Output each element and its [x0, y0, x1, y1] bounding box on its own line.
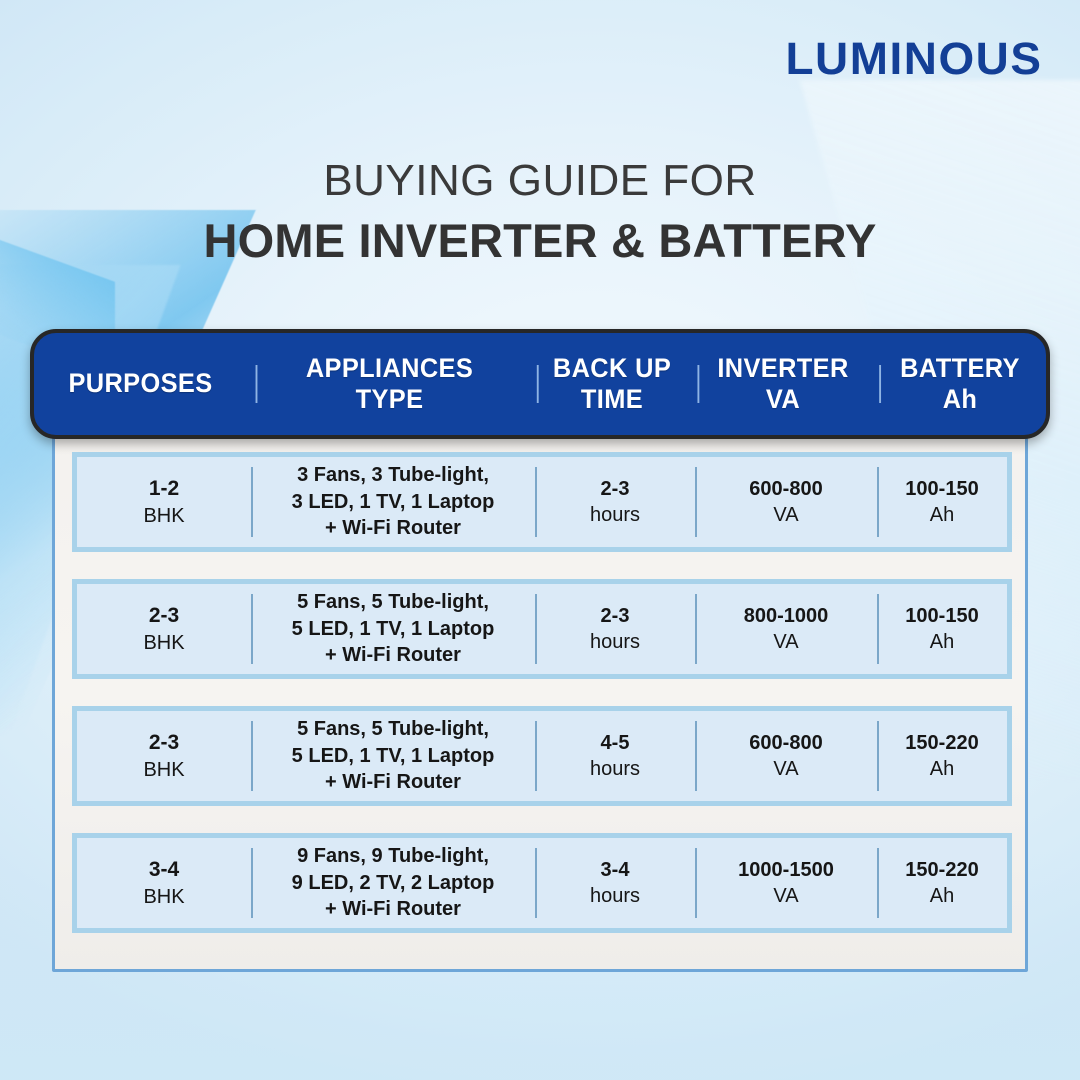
cell-purpose-sub: BHK: [143, 503, 184, 529]
cell-purpose-sub: BHK: [143, 630, 184, 656]
cell-inverter-va: 800-1000 VA: [695, 584, 877, 674]
cell-purpose: 2-3 BHK: [77, 711, 251, 801]
column-header-backup-line1: BACK UP: [553, 353, 671, 383]
cell-appliances: 3 Fans, 3 Tube-light, 3 LED, 1 TV, 1 Lap…: [251, 457, 535, 547]
cell-appliances-line3: + Wi-Fi Router: [325, 642, 461, 668]
cell-inverter-sub: VA: [773, 883, 798, 909]
cell-battery-ah: 100-150 Ah: [877, 584, 1007, 674]
cell-backup-sub: hours: [590, 502, 640, 528]
cell-purpose: 2-3 BHK: [77, 584, 251, 674]
cell-battery-sub: Ah: [930, 883, 954, 909]
column-header-appliances-line2: TYPE: [356, 384, 424, 414]
cell-inverter-va: 600-800 VA: [695, 457, 877, 547]
cell-inverter-main: 800-1000: [744, 603, 829, 629]
cell-purpose: 1-2 BHK: [77, 457, 251, 547]
cell-inverter-va: 600-800 VA: [695, 711, 877, 801]
cell-backup-time: 4-5 hours: [535, 711, 695, 801]
cell-appliances: 5 Fans, 5 Tube-light, 5 LED, 1 TV, 1 Lap…: [251, 584, 535, 674]
cell-battery-main: 150-220: [905, 857, 978, 883]
cell-appliances: 5 Fans, 5 Tube-light, 5 LED, 1 TV, 1 Lap…: [251, 711, 535, 801]
column-header-backup-line2: TIME: [581, 384, 643, 414]
cell-backup-sub: hours: [590, 629, 640, 655]
cell-appliances-line3: + Wi-Fi Router: [325, 896, 461, 922]
table-row: 3-4 BHK 9 Fans, 9 Tube-light, 9 LED, 2 T…: [72, 833, 1012, 933]
cell-backup-time: 2-3 hours: [535, 457, 695, 547]
table-row: 1-2 BHK 3 Fans, 3 Tube-light, 3 LED, 1 T…: [72, 452, 1012, 552]
cell-purpose-sub: BHK: [143, 884, 184, 910]
cell-battery-main: 100-150: [905, 603, 978, 629]
cell-battery-ah: 100-150 Ah: [877, 457, 1007, 547]
cell-battery-sub: Ah: [930, 629, 954, 655]
cell-appliances-line3: + Wi-Fi Router: [325, 515, 461, 541]
column-header-battery-line1: BATTERY: [900, 353, 1020, 383]
table-row: 2-3 BHK 5 Fans, 5 Tube-light, 5 LED, 1 T…: [72, 579, 1012, 679]
cell-appliances-line1: 3 Fans, 3 Tube-light,: [297, 462, 489, 488]
column-header-appliances-line1: APPLIANCES: [306, 353, 473, 383]
page-title-line2: HOME INVERTER & BATTERY: [0, 213, 1080, 268]
cell-appliances-line3: + Wi-Fi Router: [325, 769, 461, 795]
column-header-inverter-va: INVERTER VA: [697, 353, 868, 416]
cell-backup-main: 2-3: [601, 603, 630, 629]
cell-inverter-main: 1000-1500: [738, 857, 834, 883]
table-row: 2-3 BHK 5 Fans, 5 Tube-light, 5 LED, 1 T…: [72, 706, 1012, 806]
cell-appliances: 9 Fans, 9 Tube-light, 9 LED, 2 TV, 2 Lap…: [251, 838, 535, 928]
luminous-logo: LUMINOUS: [785, 33, 1042, 85]
column-header-purposes-line1: PURPOSES: [68, 368, 212, 398]
infographic-page: LUMINOUS BUYING GUIDE FOR HOME INVERTER …: [0, 0, 1080, 1080]
cell-inverter-sub: VA: [773, 756, 798, 782]
cell-purpose: 3-4 BHK: [77, 838, 251, 928]
cell-inverter-va: 1000-1500 VA: [695, 838, 877, 928]
cell-purpose-main: 2-3: [149, 729, 179, 757]
page-title: BUYING GUIDE FOR HOME INVERTER & BATTERY: [0, 155, 1080, 268]
cell-appliances-line1: 5 Fans, 5 Tube-light,: [297, 716, 489, 742]
table-body: 1-2 BHK 3 Fans, 3 Tube-light, 3 LED, 1 T…: [72, 452, 1012, 960]
table-header-row: PURPOSES APPLIANCES TYPE BACK UP TIME IN…: [30, 329, 1050, 439]
column-header-battery-line2: Ah: [943, 384, 978, 414]
cell-backup-sub: hours: [590, 756, 640, 782]
cell-appliances-line2: 3 LED, 1 TV, 1 Laptop: [292, 489, 495, 515]
cell-backup-main: 3-4: [601, 857, 630, 883]
column-header-inverter-line1: INVERTER: [717, 353, 848, 383]
column-header-battery-ah: BATTERY Ah: [879, 353, 1041, 416]
cell-battery-sub: Ah: [930, 756, 954, 782]
cell-inverter-main: 600-800: [749, 730, 822, 756]
cell-appliances-line2: 9 LED, 2 TV, 2 Laptop: [292, 870, 495, 896]
column-header-inverter-line2: VA: [766, 384, 800, 414]
cell-battery-main: 100-150: [905, 476, 978, 502]
cell-appliances-line2: 5 LED, 1 TV, 1 Laptop: [292, 743, 495, 769]
cell-inverter-main: 600-800: [749, 476, 822, 502]
cell-battery-main: 150-220: [905, 730, 978, 756]
cell-backup-time: 2-3 hours: [535, 584, 695, 674]
column-header-appliances-type: APPLIANCES TYPE: [256, 353, 524, 416]
column-header-back-up-time: BACK UP TIME: [537, 353, 687, 416]
cell-battery-ah: 150-220 Ah: [877, 838, 1007, 928]
cell-purpose-main: 1-2: [149, 475, 179, 503]
cell-backup-main: 2-3: [601, 476, 630, 502]
cell-backup-time: 3-4 hours: [535, 838, 695, 928]
column-header-purposes: PURPOSES: [40, 368, 240, 399]
cell-purpose-main: 2-3: [149, 602, 179, 630]
cell-battery-sub: Ah: [930, 502, 954, 528]
cell-appliances-line2: 5 LED, 1 TV, 1 Laptop: [292, 616, 495, 642]
cell-appliances-line1: 5 Fans, 5 Tube-light,: [297, 589, 489, 615]
cell-purpose-sub: BHK: [143, 757, 184, 783]
cell-battery-ah: 150-220 Ah: [877, 711, 1007, 801]
page-title-line1: BUYING GUIDE FOR: [0, 155, 1080, 207]
cell-inverter-sub: VA: [773, 629, 798, 655]
cell-backup-main: 4-5: [601, 730, 630, 756]
cell-appliances-line1: 9 Fans, 9 Tube-light,: [297, 843, 489, 869]
cell-backup-sub: hours: [590, 883, 640, 909]
cell-purpose-main: 3-4: [149, 856, 179, 884]
cell-inverter-sub: VA: [773, 502, 798, 528]
